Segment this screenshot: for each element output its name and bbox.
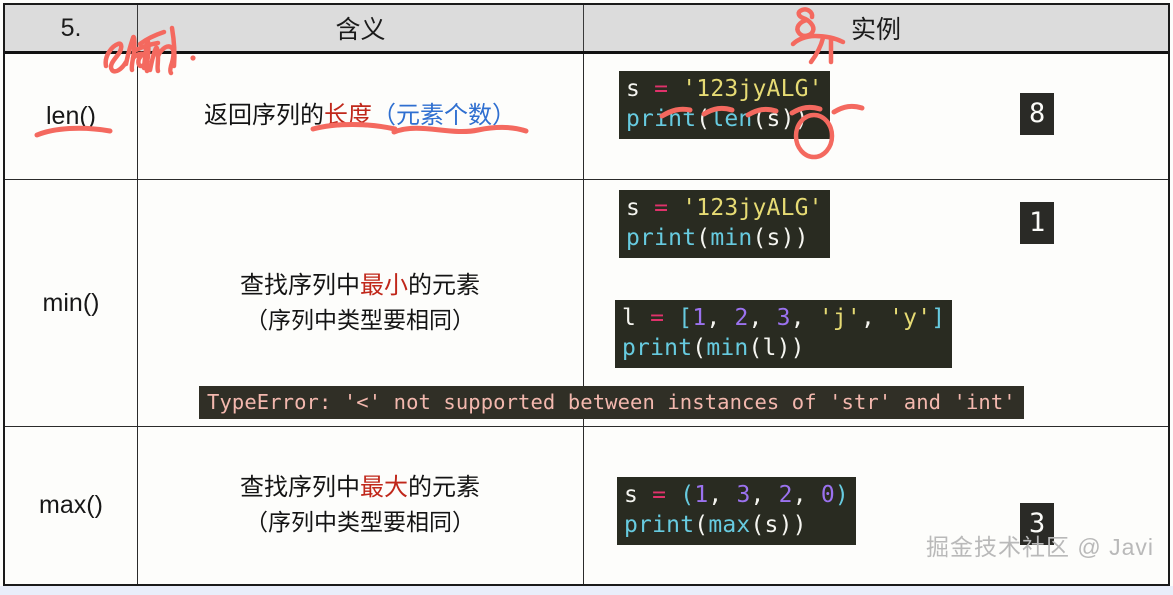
code-token-paren: )) — [781, 225, 809, 251]
bottom-strip — [0, 586, 1173, 595]
function-name-min: min() — [5, 180, 137, 426]
description-line-2: （序列中类型要相同） — [245, 304, 475, 337]
code-token-number: 2 — [734, 305, 748, 331]
error-message: TypeError: '<' not supported between ins… — [199, 386, 1024, 419]
description-cell-len: 返回序列的长度（元素个数） — [137, 54, 583, 179]
code-token-operator: = — [650, 305, 664, 331]
example-cell-len: s = '123jyALG' print(len(s)) 8 — [583, 54, 1168, 179]
function-name-len: len() — [5, 54, 137, 179]
code-token-paren: ) — [835, 482, 849, 508]
code-token-paren: ( — [680, 482, 694, 508]
output-badge: 1 — [1020, 202, 1054, 244]
code-token-operator: = — [652, 482, 666, 508]
code-token-number: 1 — [694, 482, 708, 508]
header-cell-meaning: 含义 — [137, 5, 583, 51]
code-token-number: 1 — [692, 305, 706, 331]
table-row: max() 查找序列中最大的元素 （序列中类型要相同） s = (1, 3, 2… — [5, 427, 1168, 584]
code-block: l = [1, 2, 3, 'j', 'y'] print(min(l)) — [615, 300, 952, 368]
description-line-2: （序列中类型要相同） — [245, 506, 475, 539]
code-token-argument: s — [767, 106, 781, 132]
code-token-paren: ( — [696, 106, 710, 132]
code-token-bracket: ] — [931, 305, 945, 331]
watermark: 掘金技术社区 @ Javi — [926, 528, 1154, 562]
code-token-operator: = — [654, 195, 668, 221]
code-token-comma: , — [791, 305, 819, 331]
code-token-function-inner: min — [710, 225, 752, 251]
header-cell-example: 实例 — [583, 5, 1168, 51]
code-token-comma: , — [708, 482, 736, 508]
function-name-max: max() — [5, 427, 137, 584]
code-token-comma: , — [706, 305, 734, 331]
code-token-comma: , — [749, 305, 777, 331]
code-token-string: 'y' — [889, 305, 931, 331]
code-token-string: '123jyALG' — [682, 195, 822, 221]
code-token-paren: ( — [748, 335, 762, 361]
code-token-argument: s — [767, 225, 781, 251]
code-token-paren: )) — [777, 335, 805, 361]
function-name-label: len() — [46, 102, 96, 131]
code-token-paren: )) — [779, 512, 807, 538]
code-token-argument: s — [765, 512, 779, 538]
output-value: 8 — [1029, 98, 1045, 129]
code-token-argument: l — [763, 335, 777, 361]
desc-suffix: 的元素 — [408, 474, 480, 501]
code-token-function-inner: len — [710, 106, 752, 132]
code-token-paren: ( — [696, 225, 710, 251]
code-token-number: 3 — [736, 482, 750, 508]
desc-highlight-blue: （元素个数） — [372, 102, 516, 129]
code-token-function: print — [626, 106, 696, 132]
header-index-label: 5. — [61, 14, 82, 43]
desc-prefix: 查找序列中 — [240, 474, 360, 501]
code-block: s = (1, 3, 2, 0) print(max(s)) — [617, 477, 856, 545]
code-token-paren: )) — [781, 106, 809, 132]
description-line: 返回序列的长度（元素个数） — [204, 99, 516, 134]
code-token-bracket: [ — [678, 305, 692, 331]
table-header-row: 5. 含义 实例 — [5, 5, 1168, 54]
code-token-number: 2 — [779, 482, 793, 508]
code-token-paren: ( — [694, 512, 708, 538]
code-token-variable: s — [626, 195, 640, 221]
code-token-function: print — [624, 512, 694, 538]
header-meaning-label: 含义 — [335, 10, 385, 46]
code-token-number: 3 — [777, 305, 791, 331]
code-token-paren: ( — [752, 225, 766, 251]
code-token-paren: ( — [752, 106, 766, 132]
desc-prefix: 查找序列中 — [240, 272, 360, 299]
code-token-variable: s — [626, 76, 640, 102]
code-token-string: 'j' — [819, 305, 861, 331]
desc-prefix: 返回序列的 — [204, 102, 324, 129]
code-block: s = '123jyALG' print(min(s)) — [619, 190, 830, 258]
code-token-variable: s — [624, 482, 638, 508]
code-token-paren: ( — [692, 335, 706, 361]
description-line: 查找序列中最大的元素 — [240, 471, 480, 506]
code-block: s = '123jyALG' print(len(s)) — [619, 71, 830, 139]
code-token-function: print — [622, 335, 692, 361]
function-name-label: min() — [43, 289, 100, 318]
desc-highlight-red: 长度 — [324, 102, 372, 129]
desc-suffix: 的元素 — [408, 272, 480, 299]
code-token-function: print — [626, 225, 696, 251]
code-token-variable: l — [622, 305, 636, 331]
functions-table: 5. 含义 实例 len() 返回序列的长度（元素个数） s = '123jyA… — [3, 3, 1170, 586]
code-token-comma: , — [751, 482, 779, 508]
description-line: 查找序列中最小的元素 — [240, 269, 480, 304]
header-cell-index: 5. — [5, 5, 137, 51]
header-example-label: 实例 — [851, 10, 901, 46]
desc-highlight-red: 最小 — [360, 272, 408, 299]
code-token-function-inner: min — [706, 335, 748, 361]
desc-highlight-red: 最大 — [360, 474, 408, 501]
code-token-function-inner: max — [708, 512, 750, 538]
output-badge: 8 — [1020, 93, 1054, 135]
output-value: 1 — [1029, 207, 1045, 238]
code-token-operator: = — [654, 76, 668, 102]
page-root: 5. 含义 实例 len() 返回序列的长度（元素个数） s = '123jyA… — [0, 0, 1173, 595]
code-token-comma: , — [793, 482, 821, 508]
description-cell-max: 查找序列中最大的元素 （序列中类型要相同） — [137, 427, 583, 584]
function-name-label: max() — [39, 491, 103, 520]
code-token-paren: ( — [750, 512, 764, 538]
table-row: len() 返回序列的长度（元素个数） s = '123jyALG' print… — [5, 54, 1168, 179]
code-token-comma: , — [861, 305, 889, 331]
code-token-number: 0 — [821, 482, 835, 508]
code-token-string: '123jyALG' — [682, 76, 822, 102]
